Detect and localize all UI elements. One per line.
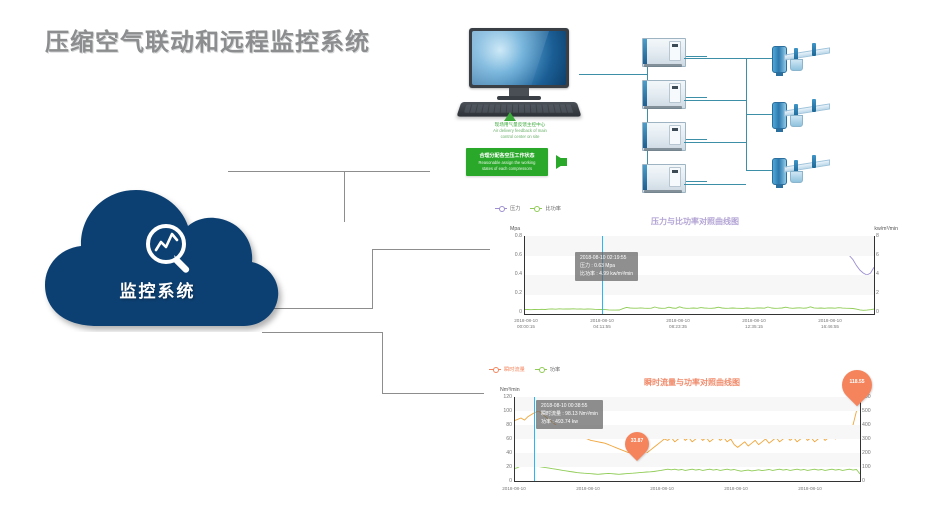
keyboard-icon bbox=[456, 102, 581, 117]
air-compressor-3[interactable] bbox=[642, 120, 684, 152]
chart1-xtick-3: 2018-08-1012:35:15 bbox=[726, 318, 782, 330]
air-compressor-1[interactable] bbox=[642, 36, 684, 68]
legend-swatch-power bbox=[535, 369, 547, 370]
chart2-xtick-0: 2018-08-10 bbox=[486, 486, 542, 492]
flow-power-chart: 瞬时流量 功率 瞬时流量与功率对照曲线图 Nm³/min 120 100 80 … bbox=[484, 362, 900, 520]
green-box-cn: 合理分配各空压工作状态 bbox=[479, 153, 534, 160]
legend-label-specific-power: 比功率 bbox=[545, 205, 561, 212]
connector-line-2-vert bbox=[372, 249, 373, 309]
chart2-tooltip-line2: 功率 : 493.74 kw bbox=[541, 419, 598, 427]
chart1-ytick-4: 0 bbox=[498, 309, 522, 315]
chart2-marker-min[interactable]: 33.87 bbox=[625, 432, 649, 456]
wire-collector-1 bbox=[684, 58, 746, 59]
chart1-ylabel-left: Mpa bbox=[510, 226, 520, 232]
chart2-axis-bottom bbox=[514, 481, 861, 482]
chart1-title: 压力与比功率对照曲线图 bbox=[490, 216, 900, 227]
chart1-ytick-1: 0.6 bbox=[498, 252, 522, 258]
page-title: 压缩空气联动和远程监控系统 bbox=[45, 22, 370, 57]
legend-label-flow: 瞬时流量 bbox=[504, 366, 525, 373]
chart2-tooltip-time: 2018-08-10 00:38:55 bbox=[541, 403, 598, 411]
chart2-ytick-3: 60 bbox=[488, 436, 512, 442]
chart2-marker-max[interactable]: 118.55 bbox=[842, 370, 872, 400]
chart2-band-3 bbox=[514, 453, 860, 467]
chart1-axis-bottom bbox=[524, 314, 875, 315]
caption-en-line2: control center on site bbox=[460, 134, 580, 140]
monitoring-system-cloud[interactable]: 监控系统 bbox=[35, 184, 290, 332]
monitor-stand-base bbox=[497, 96, 541, 100]
legend-label-power: 功率 bbox=[550, 366, 560, 373]
chart2-ytick-right-3: 300 bbox=[862, 436, 882, 442]
monitor-screen bbox=[469, 28, 569, 88]
chart2-ytick-right-6: 0 bbox=[862, 478, 882, 484]
chart2-axis-right bbox=[860, 397, 861, 481]
triangle-up-icon bbox=[504, 112, 516, 121]
wire-monitor-to-hub bbox=[579, 74, 647, 75]
chart1-xtick-1: 2018-08-1004:11:55 bbox=[574, 318, 630, 330]
legend-item-specific-power[interactable]: 比功率 bbox=[530, 205, 561, 212]
chart2-xtick-2: 2018-08-10 bbox=[634, 486, 690, 492]
chart1-xtick-2: 2018-08-1008:23:35 bbox=[650, 318, 706, 330]
chart1-ylabel-right: kw/m³/min bbox=[874, 226, 898, 232]
chart2-axis-left bbox=[514, 397, 515, 481]
chart2-marker-min-label: 33.87 bbox=[625, 438, 649, 444]
pressure-power-chart: 压力 比功率 压力与比功率对照曲线图 Mpa kw/m³/min 0.8 0.6… bbox=[490, 200, 900, 335]
air-tank-pipeline-2[interactable] bbox=[772, 98, 828, 132]
chart1-xtick-4: 2018-08-1016:46:55 bbox=[802, 318, 858, 330]
connector-line-1 bbox=[228, 171, 344, 172]
chart2-title: 瞬时流量与功率对照曲线图 bbox=[484, 377, 900, 388]
connector-line-2-top bbox=[372, 249, 490, 250]
chart1-ytick-right-1: 6 bbox=[876, 252, 890, 258]
chart1-ytick-0: 0.8 bbox=[498, 233, 522, 239]
connector-line-3-bottom bbox=[382, 393, 490, 394]
connector-line-3-vert bbox=[382, 332, 383, 394]
chart2-xtick-4: 2018-08-10 bbox=[782, 486, 838, 492]
chart2-marker-max-label: 118.55 bbox=[842, 379, 872, 385]
wire-collector-4 bbox=[684, 184, 746, 185]
magnifier-chart-icon bbox=[141, 220, 203, 282]
legend-item-flow[interactable]: 瞬时流量 bbox=[489, 366, 525, 373]
status-allocation-box: 合理分配各空压工作状态 Reasonable assign the workin… bbox=[466, 148, 548, 176]
arrow-right-icon bbox=[556, 155, 567, 169]
legend-swatch-specific-power bbox=[530, 208, 542, 209]
chart2-ytick-right-2: 400 bbox=[862, 422, 882, 428]
chart2-ytick-2: 80 bbox=[488, 422, 512, 428]
chart1-legend: 压力 比功率 bbox=[495, 205, 561, 212]
air-compressor-2[interactable] bbox=[642, 78, 684, 110]
chart2-ytick-right-4: 200 bbox=[862, 450, 882, 456]
chart2-ytick-4: 40 bbox=[488, 450, 512, 456]
connector-line-3 bbox=[262, 332, 383, 333]
chart1-ytick-2: 0.4 bbox=[498, 271, 522, 277]
chart2-legend: 瞬时流量 功率 bbox=[489, 366, 560, 373]
chart2-ytick-right-5: 100 bbox=[862, 464, 882, 470]
chart1-ytick-right-0: 8 bbox=[876, 233, 890, 239]
legend-label-pressure: 压力 bbox=[510, 205, 520, 212]
legend-swatch-flow bbox=[489, 369, 501, 370]
chart2-ytick-1: 100 bbox=[488, 408, 512, 414]
chart2-tooltip: 2018-08-10 00:38:55 瞬时流量 : 98.13 Nm³/min… bbox=[536, 400, 603, 429]
chart2-ytick-5: 20 bbox=[488, 464, 512, 470]
legend-item-power[interactable]: 功率 bbox=[535, 366, 560, 373]
chart2-xtick-3: 2018-08-10 bbox=[708, 486, 764, 492]
chart1-xtick-0: 2018-08-1000:00:15 bbox=[498, 318, 554, 330]
legend-item-pressure[interactable]: 压力 bbox=[495, 205, 520, 212]
slide-canvas: 压缩空气联动和远程监控系统 监控系统 bbox=[0, 0, 945, 529]
connector-line-1-vert bbox=[344, 172, 345, 222]
chart1-axis-right bbox=[874, 236, 875, 314]
wire-collector-2 bbox=[684, 100, 746, 101]
chart2-ytick-0: 120 bbox=[488, 394, 512, 400]
air-tank-pipeline-1[interactable] bbox=[772, 42, 828, 76]
air-tank-pipeline-3[interactable] bbox=[772, 154, 828, 188]
chart1-tooltip-line2: 比功率 : 4.99 kw/m³/min bbox=[580, 271, 633, 279]
desktop-monitor-icon bbox=[459, 28, 579, 123]
chart2-tooltip-line1: 瞬时流量 : 98.13 Nm³/min bbox=[541, 411, 598, 419]
chart1-tooltip: 2018-08-10 02:19:55 压力 : 0.63 Mpa 比功率 : … bbox=[575, 252, 638, 281]
air-compressor-4[interactable] bbox=[642, 162, 684, 194]
chart1-tooltip-time: 2018-08-10 02:19:55 bbox=[580, 255, 633, 263]
chart2-ytick-6: 0 bbox=[488, 478, 512, 484]
green-box-en-line2: states of each compressors bbox=[482, 166, 532, 172]
cloud-label: 监控系统 bbox=[35, 277, 280, 302]
chart2-ytick-right-1: 500 bbox=[862, 408, 882, 414]
chart1-ytick-right-2: 4 bbox=[876, 271, 890, 277]
chart2-cursor[interactable] bbox=[534, 397, 535, 481]
chart1-axis-left bbox=[524, 236, 525, 314]
connector-line-1-top bbox=[344, 171, 430, 172]
chart2-xtick-1: 2018-08-10 bbox=[560, 486, 616, 492]
chart2-ylabel-left: Nm³/min bbox=[500, 387, 520, 393]
legend-swatch-pressure bbox=[495, 208, 507, 209]
chart1-ytick-3: 0.2 bbox=[498, 290, 522, 296]
wire-collector-3 bbox=[684, 142, 746, 143]
chart1-tooltip-line1: 压力 : 0.63 Mpa bbox=[580, 263, 633, 271]
chart1-ytick-right-4: 0 bbox=[876, 309, 890, 315]
chart1-ytick-right-3: 2 bbox=[876, 290, 890, 296]
